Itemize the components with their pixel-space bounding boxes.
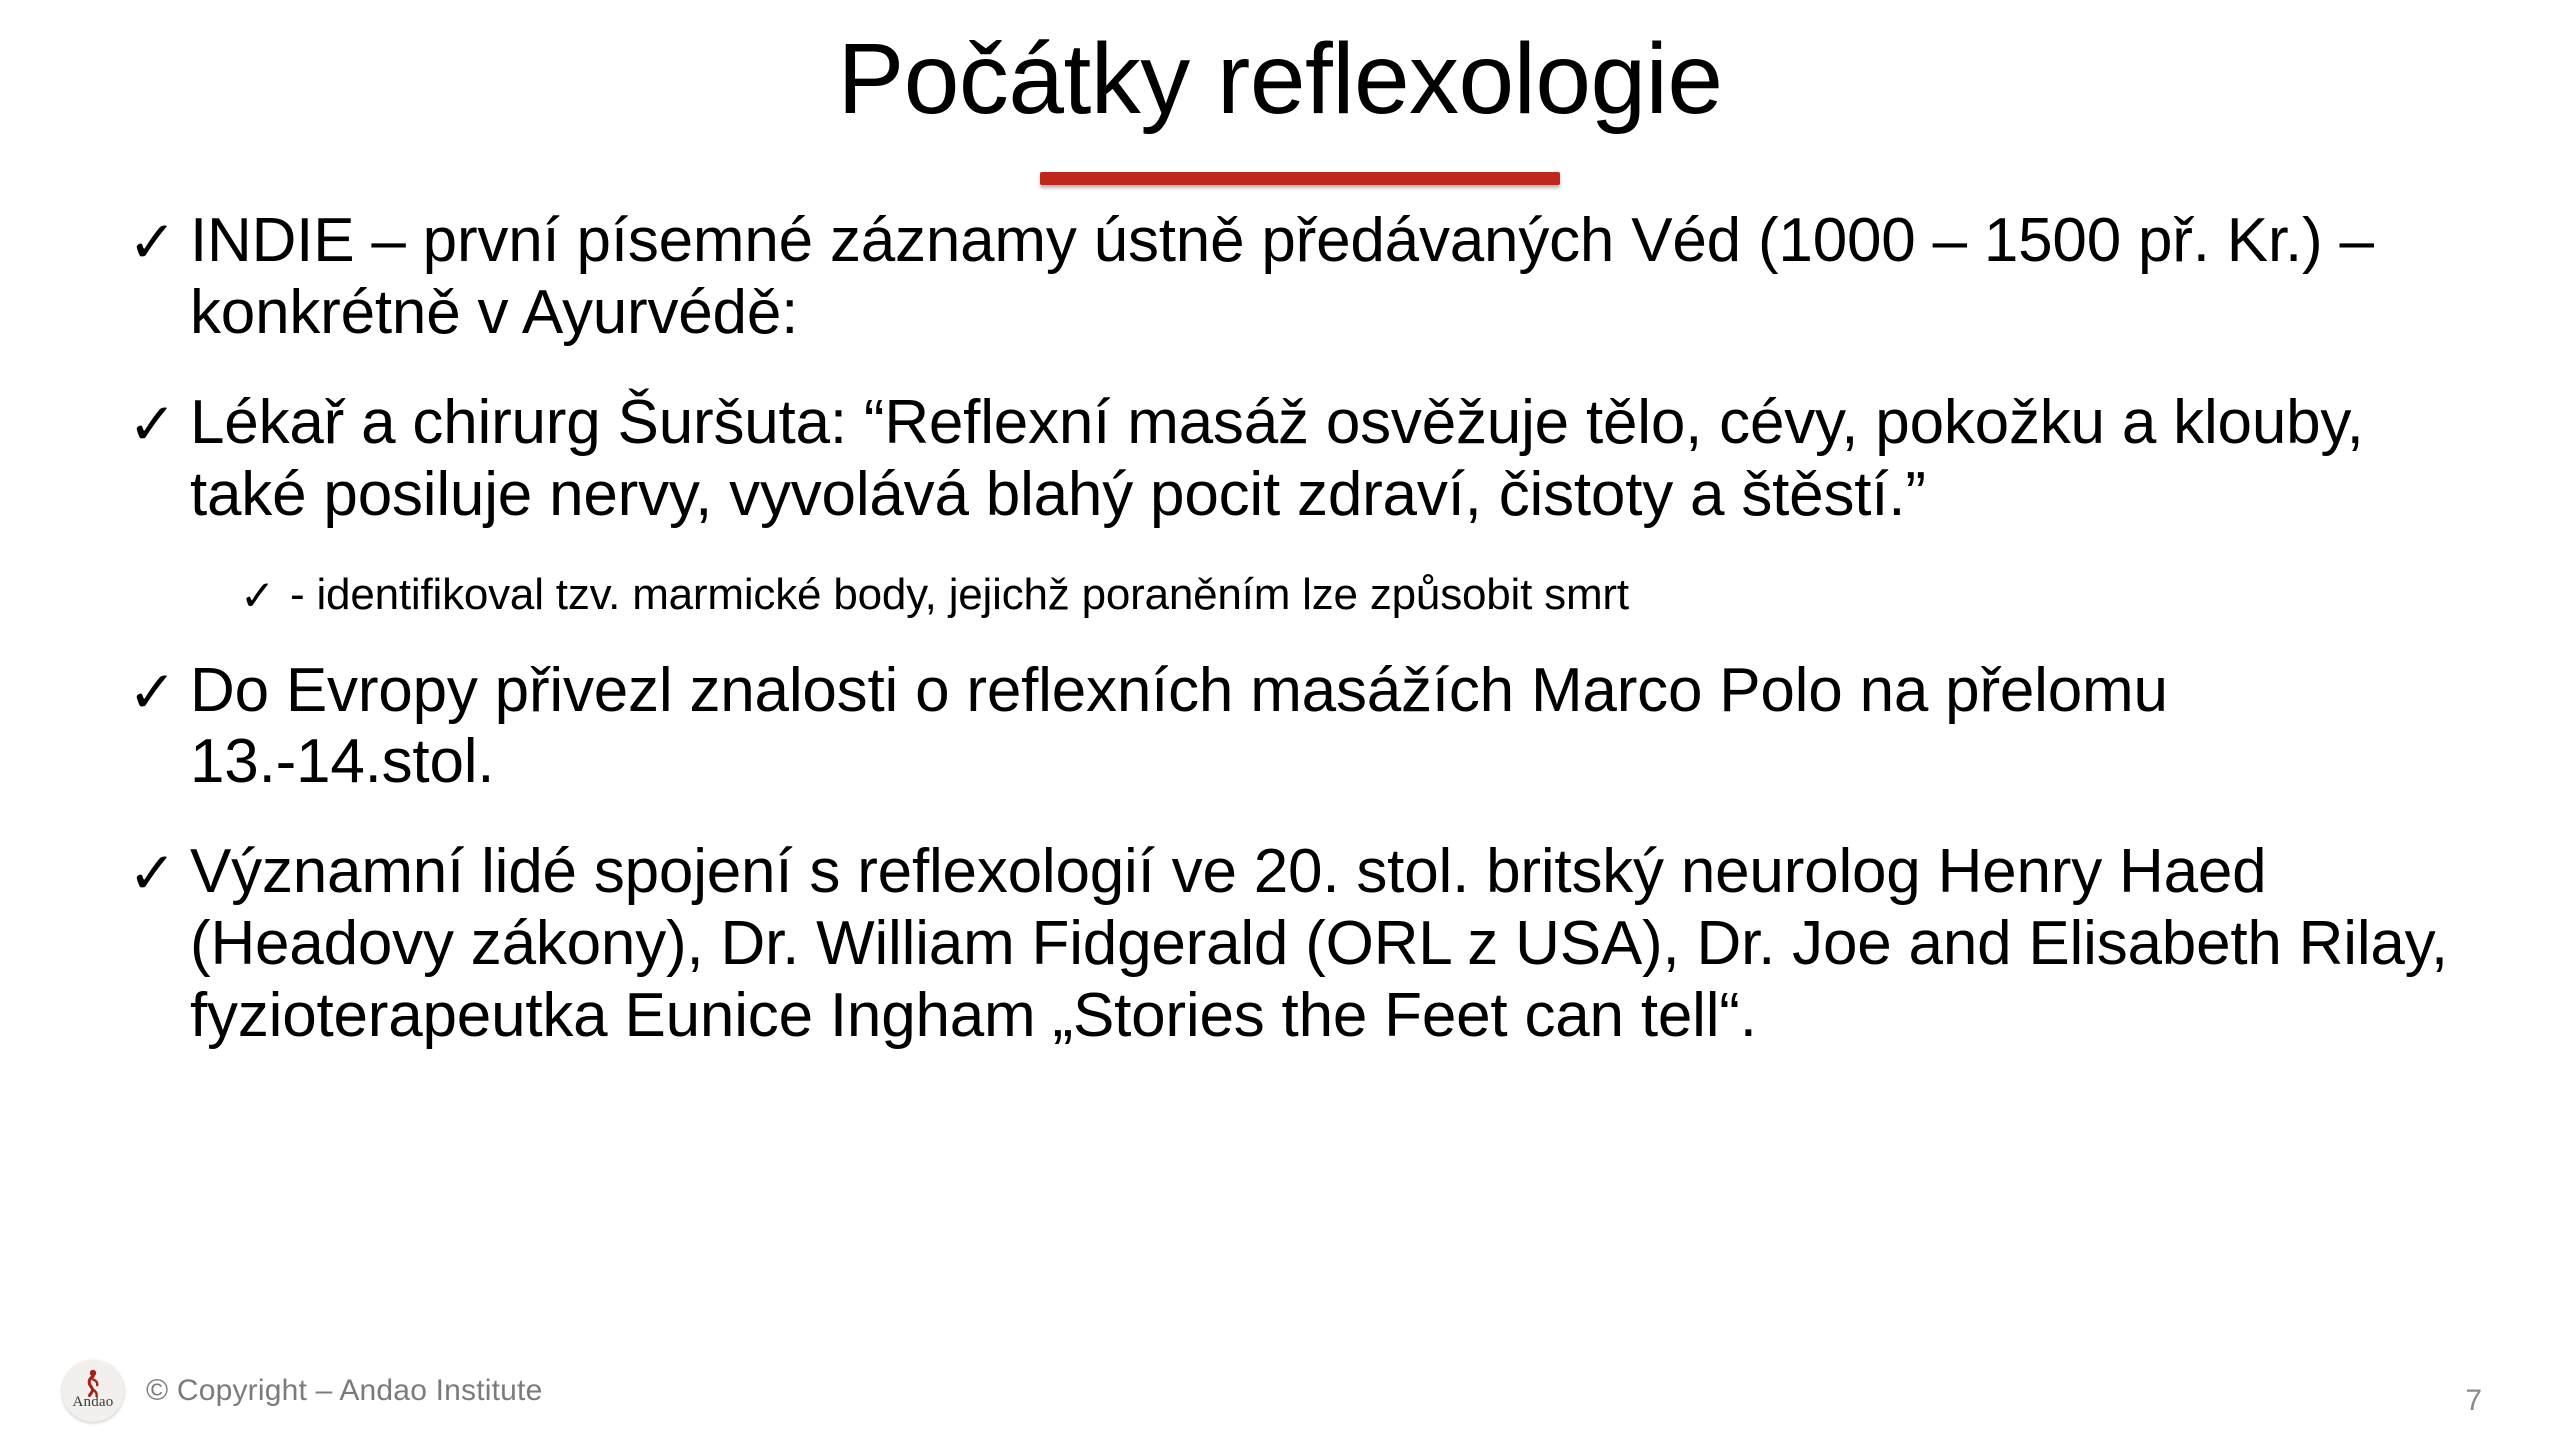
logo-wordmark: Andao: [62, 1394, 124, 1411]
sub-bullet-item-1: ✓ - identifikoval tzv. marmické body, je…: [240, 569, 2458, 621]
title-accent-underline: [1040, 172, 1560, 185]
check-icon: ✓: [128, 213, 190, 271]
copyright-text: © Copyright – Andao Institute: [146, 1374, 542, 1408]
check-icon: ✓: [128, 395, 190, 453]
check-icon: ✓: [128, 663, 190, 721]
slide: Počátky reflexologie ✓ INDIE – první pís…: [0, 0, 2560, 1440]
slide-footer: Andao © Copyright – Andao Institute 7: [0, 1348, 2560, 1440]
bullet-item-4: ✓ Významní lidé spojení s reflexologií v…: [128, 836, 2458, 1052]
bullet-text: Do Evropy přivezl znalosti o reflexních …: [190, 655, 2458, 799]
check-icon: ✓: [240, 575, 290, 617]
bullet-item-3: ✓ Do Evropy přivezl znalosti o reflexníc…: [128, 655, 2458, 799]
andao-logo: Andao: [62, 1360, 124, 1422]
bullet-item-2: ✓ Lékař a chirurg Šuršuta: “Reflexní mas…: [128, 387, 2458, 531]
footer-left-group: Andao © Copyright – Andao Institute: [62, 1360, 542, 1422]
bullet-item-1: ✓ INDIE – první písemné záznamy ústně př…: [128, 205, 2458, 349]
bullet-list: ✓ INDIE – první písemné záznamy ústně př…: [128, 205, 2458, 1090]
bullet-text: INDIE – první písemné záznamy ústně před…: [190, 205, 2458, 349]
bullet-text: Lékař a chirurg Šuršuta: “Reflexní masáž…: [190, 387, 2458, 531]
page-title: Počátky reflexologie: [0, 26, 2560, 132]
bullet-text: - identifikoval tzv. marmické body, jeji…: [290, 569, 2458, 621]
bullet-text: Významní lidé spojení s reflexologií ve …: [190, 836, 2458, 1052]
check-icon: ✓: [128, 844, 190, 902]
page-number: 7: [2465, 1384, 2482, 1418]
title-block: Počátky reflexologie: [0, 26, 2560, 132]
